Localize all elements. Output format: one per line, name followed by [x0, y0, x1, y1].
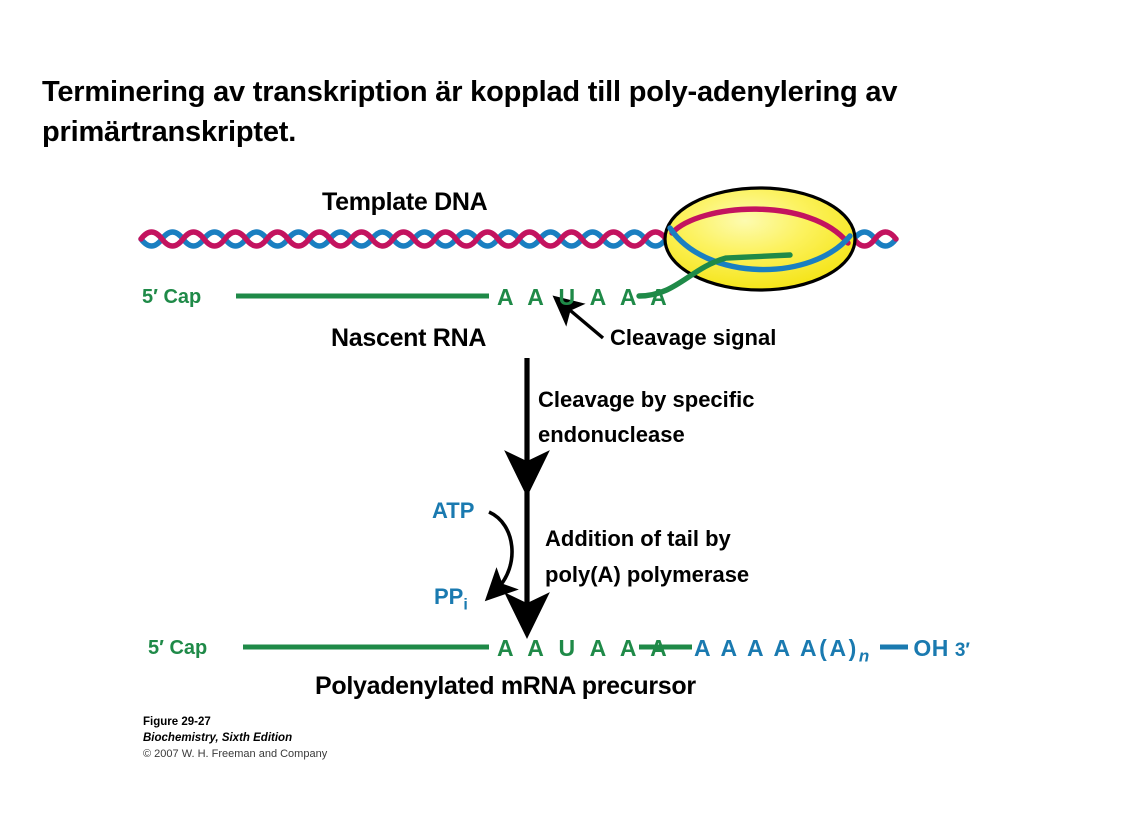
poly-a-tail-bases: A A A A A(A)	[694, 635, 859, 661]
poly-a-tail-sequence: A A A A A(A)nOH3′	[694, 635, 970, 667]
step-cleavage-label: Cleavage by specific endonuclease	[538, 382, 754, 452]
template-dna-helix-left	[141, 232, 687, 246]
poly-a-terminus-three-prime: 3′	[955, 640, 970, 661]
poly-a-terminus-oh: OH	[913, 635, 949, 661]
product-signal-sequence: A A U A A A	[497, 635, 671, 662]
step-cleavage-line-1: Cleavage by specific	[538, 382, 754, 417]
step-polya-line-1: Addition of tail by	[545, 521, 749, 557]
product-name-label: Polyadenylated mRNA precursor	[315, 672, 696, 701]
credit-book-title: Biochemistry, Sixth Edition	[143, 730, 327, 746]
five-prime-cap-label-nascent: 5′ Cap	[142, 286, 201, 309]
cleavage-signal-label: Cleavage signal	[610, 325, 776, 351]
credit-figure-number: Figure 29-27	[143, 714, 327, 730]
template-dna-label: Template DNA	[322, 188, 487, 217]
atp-to-ppi-curved-arrow	[489, 512, 512, 589]
figure-transcription-termination: Template DNA Nascent RNA 5′ Cap A A U A …	[0, 0, 1130, 816]
poly-a-tail-subscript-n: n	[859, 647, 869, 666]
nascent-rna-label: Nascent RNA	[331, 324, 486, 353]
step-polya-line-2: poly(A) polymerase	[545, 557, 749, 593]
ppi-subscript: i	[463, 596, 467, 613]
ppi-main: PP	[434, 584, 463, 609]
figure-credit: Figure 29-27 Biochemistry, Sixth Edition…	[143, 714, 327, 762]
step-cleavage-line-2: endonuclease	[538, 417, 754, 452]
atp-label: ATP	[432, 498, 474, 524]
credit-copyright: © 2007 W. H. Freeman and Company	[143, 747, 327, 763]
step-polyadenylation-label: Addition of tail by poly(A) polymerase	[545, 521, 749, 594]
cleavage-signal-sequence: A A U A A A	[497, 284, 671, 311]
ppi-label: PPi	[434, 584, 468, 614]
five-prime-cap-label-product: 5′ Cap	[148, 637, 207, 660]
